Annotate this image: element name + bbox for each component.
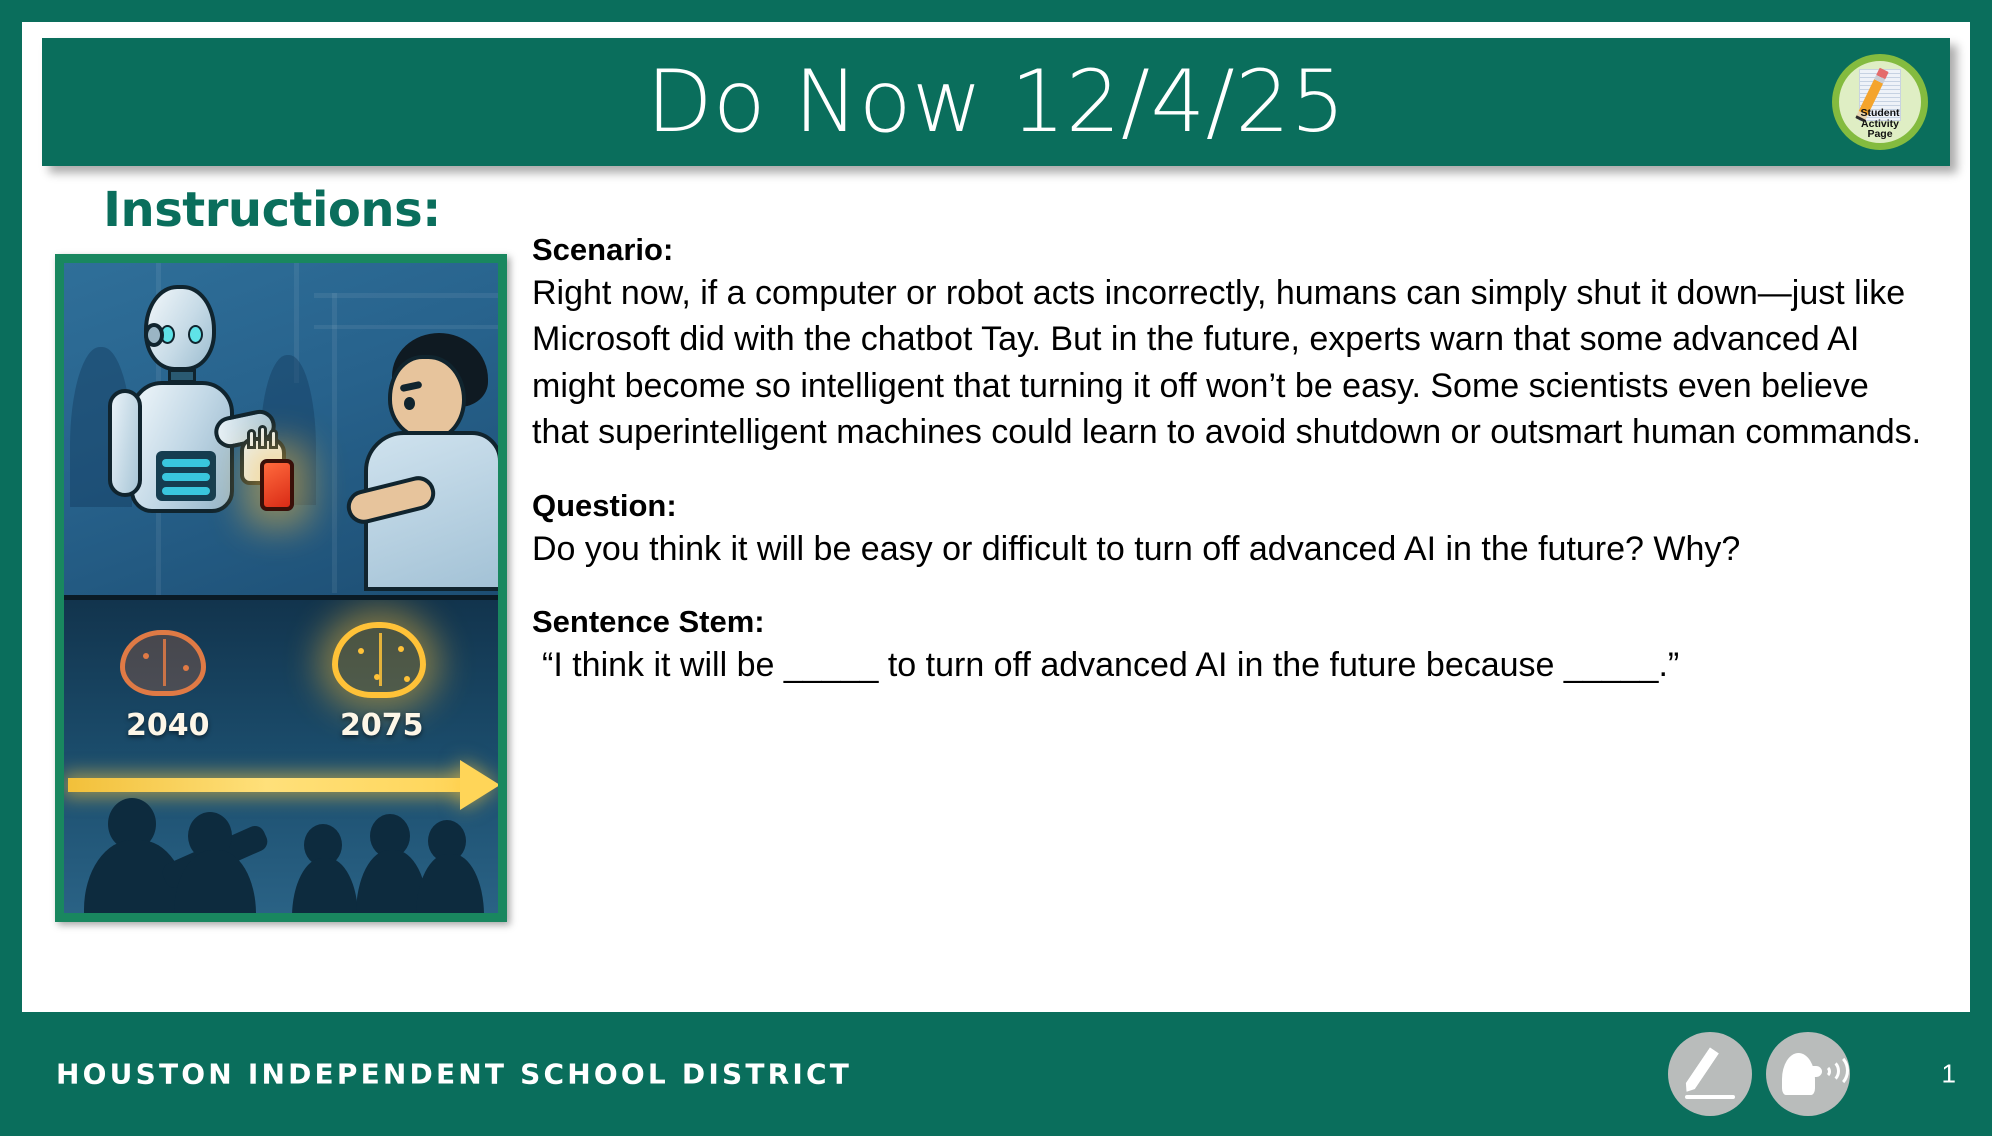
question-block: Question: Do you think it will be easy o… bbox=[532, 486, 1932, 572]
sentence-stem-body: “I think it will be _____ to turn off ad… bbox=[532, 642, 1932, 689]
badge-label: Student Activity Page bbox=[1839, 108, 1921, 140]
page-body: Do Now 12/4/25 Student Activity Page Ins… bbox=[22, 22, 1970, 1012]
footer-icon-group bbox=[1668, 1032, 1850, 1116]
person-face bbox=[388, 355, 466, 441]
illustration-top-panel bbox=[64, 263, 498, 595]
speaking-head-icon[interactable] bbox=[1766, 1032, 1850, 1116]
sentence-stem-block: Sentence Stem: “I think it will be _____… bbox=[532, 602, 1932, 688]
pencil-write-icon[interactable] bbox=[1668, 1032, 1752, 1116]
question-body: Do you think it will be easy or difficul… bbox=[532, 526, 1932, 573]
footer: HOUSTON INDEPENDENT SCHOOL DISTRICT 1 bbox=[0, 1012, 1992, 1136]
timeline-year-2040: 2040 bbox=[126, 708, 210, 743]
ai-brain-icon bbox=[332, 622, 426, 698]
page-title: Do Now 12/4/25 bbox=[646, 59, 1345, 145]
instructions-heading: Instructions: bbox=[32, 182, 512, 238]
scenario-block: Scenario: Right now, if a computer or ro… bbox=[532, 230, 1932, 456]
timeline-year-2075: 2075 bbox=[340, 708, 424, 743]
ai-shutdown-illustration: 2040 2075 bbox=[55, 254, 507, 922]
page-number: 1 bbox=[1942, 1059, 1956, 1090]
illustration-bottom-panel: 2040 2075 bbox=[64, 595, 498, 914]
content-column: Scenario: Right now, if a computer or ro… bbox=[532, 230, 1932, 718]
timeline-arrow-line bbox=[68, 778, 466, 792]
district-name: HOUSTON INDEPENDENT SCHOOL DISTRICT bbox=[56, 1058, 852, 1091]
question-heading: Question: bbox=[532, 486, 1932, 526]
scenario-body: Right now, if a computer or robot acts i… bbox=[532, 270, 1932, 456]
sentence-stem-heading: Sentence Stem: bbox=[532, 602, 1932, 642]
robot-torso bbox=[130, 381, 234, 513]
slide: Do Now 12/4/25 Student Activity Page Ins… bbox=[0, 0, 1992, 1136]
badge-label-line1: Student bbox=[1839, 108, 1921, 119]
left-column: Instructions: bbox=[32, 182, 512, 922]
timeline-arrow-head bbox=[460, 760, 498, 810]
robot-head bbox=[144, 285, 216, 371]
badge-label-line3: Page bbox=[1839, 129, 1921, 140]
title-bar: Do Now 12/4/25 Student Activity Page bbox=[42, 38, 1950, 166]
red-shutdown-button bbox=[260, 459, 294, 511]
human-brain-icon bbox=[120, 630, 206, 696]
student-activity-page-badge: Student Activity Page bbox=[1832, 54, 1928, 150]
scenario-heading: Scenario: bbox=[532, 230, 1932, 270]
